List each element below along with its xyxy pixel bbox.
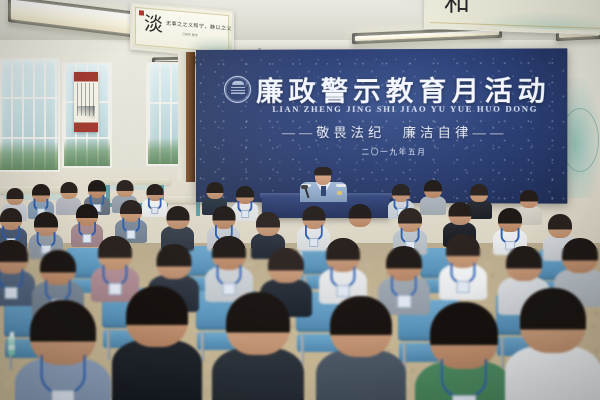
audience-member <box>520 288 586 400</box>
audience-member-torso <box>112 340 201 400</box>
audience-member-torso <box>212 348 304 400</box>
audience-member <box>326 238 360 303</box>
audience-member-head <box>268 248 304 283</box>
audience-member-head <box>548 214 572 238</box>
audience-member <box>30 300 96 400</box>
audience-member-head <box>562 238 598 273</box>
lanyard-badge <box>457 281 470 293</box>
audience-member <box>430 302 498 400</box>
chair-leg <box>501 338 504 368</box>
water-bottle <box>8 336 15 356</box>
lanyard-badge <box>51 390 74 400</box>
audience-member <box>0 240 28 305</box>
chair-leg <box>301 335 304 364</box>
lanyard-badge <box>397 295 411 308</box>
audience-member <box>520 190 538 224</box>
audience-member <box>330 296 392 400</box>
audience-member-torso <box>420 196 446 215</box>
lanyard <box>41 355 86 395</box>
audience-member <box>236 186 254 220</box>
audience-member <box>302 206 325 250</box>
audience-member-head <box>6 188 23 205</box>
lanyard-badge <box>5 287 18 299</box>
audience-member-head <box>520 190 538 208</box>
audience-member <box>446 234 480 299</box>
audience-member <box>76 204 98 246</box>
audience-member <box>146 184 163 216</box>
lanyard-badge <box>309 238 318 247</box>
audience-member-head <box>226 292 290 355</box>
audience-member <box>424 180 442 214</box>
audience-member-head <box>256 212 280 236</box>
audience-member-torso <box>505 346 600 400</box>
lanyard-badge <box>151 207 158 214</box>
lanyard <box>441 359 487 400</box>
audience-member-head <box>470 184 488 202</box>
audience-member <box>126 286 188 400</box>
audience-member-head <box>60 182 77 199</box>
audience-member-head <box>330 296 392 357</box>
chair-leg <box>107 331 110 360</box>
audience-member-head <box>126 286 188 347</box>
audience-member-head <box>424 180 442 198</box>
conference-photo: 淡 无事之之义和宁，静以之义和深。 己亥年 墨宝 和 廉政警示教育月活动 LIA… <box>0 0 600 400</box>
audience-member <box>226 292 290 400</box>
audience <box>0 0 600 400</box>
lanyard-badge <box>241 210 249 217</box>
audience-member-torso <box>316 350 405 400</box>
lanyard-badge <box>452 395 476 400</box>
audience-member-head <box>206 182 223 199</box>
audience-member-head <box>348 204 371 227</box>
audience-member-head <box>506 246 542 281</box>
audience-member <box>470 184 488 218</box>
audience-member-head <box>116 180 133 197</box>
audience-member-head <box>156 244 191 279</box>
audience-member-head <box>448 202 471 225</box>
audience-member-head <box>166 206 189 229</box>
lanyard-badge <box>82 234 91 243</box>
lanyard-badge <box>109 283 122 295</box>
audience-member-head <box>520 288 586 353</box>
audience-member <box>60 182 77 214</box>
